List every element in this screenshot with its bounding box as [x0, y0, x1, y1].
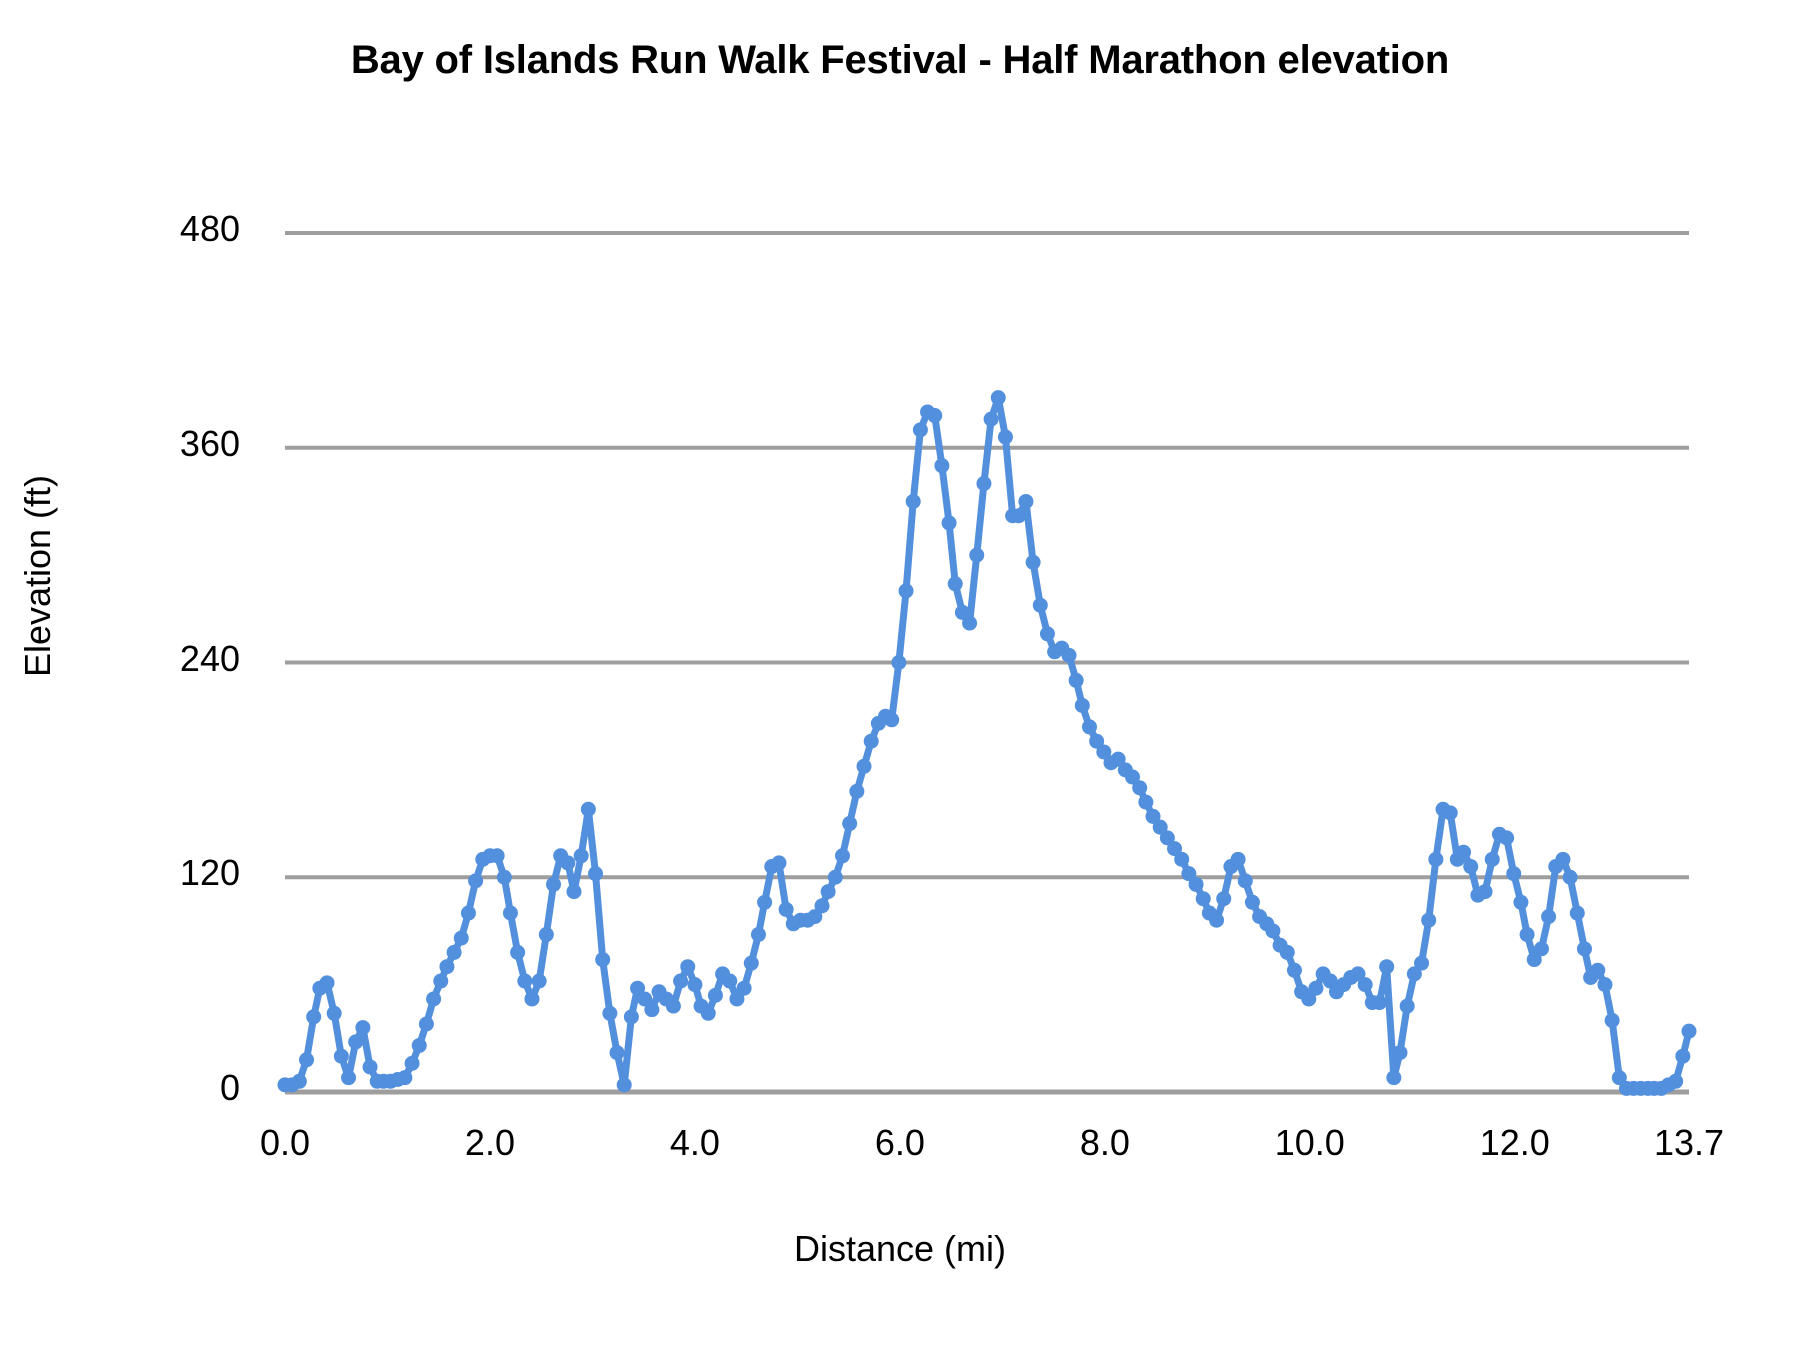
data-point[interactable] — [341, 1070, 356, 1085]
data-point[interactable] — [934, 458, 949, 473]
data-point[interactable] — [617, 1077, 632, 1092]
data-point[interactable] — [412, 1038, 427, 1053]
data-point[interactable] — [1563, 870, 1578, 885]
data-point[interactable] — [1082, 719, 1097, 734]
plot-area — [0, 0, 1800, 1350]
data-point[interactable] — [779, 902, 794, 917]
data-point[interactable] — [857, 759, 872, 774]
data-point[interactable] — [1216, 891, 1231, 906]
data-point[interactable] — [1358, 977, 1373, 992]
data-point[interactable] — [426, 991, 441, 1006]
elevation-chart: Bay of Islands Run Walk Festival - Half … — [0, 0, 1800, 1350]
data-point[interactable] — [306, 1009, 321, 1024]
data-point[interactable] — [1675, 1049, 1690, 1064]
data-point[interactable] — [348, 1034, 363, 1049]
data-point[interactable] — [815, 898, 830, 913]
data-point[interactable] — [1463, 859, 1478, 874]
data-point[interactable] — [517, 974, 532, 989]
data-point[interactable] — [1534, 941, 1549, 956]
data-point[interactable] — [1231, 852, 1246, 867]
data-point[interactable] — [1485, 852, 1500, 867]
data-point[interactable] — [1308, 981, 1323, 996]
data-point[interactable] — [595, 952, 610, 967]
data-point[interactable] — [567, 884, 582, 899]
data-point[interactable] — [1605, 1013, 1620, 1028]
data-point[interactable] — [1386, 1070, 1401, 1085]
data-point[interactable] — [1069, 673, 1084, 688]
data-point[interactable] — [984, 412, 999, 427]
data-point[interactable] — [461, 906, 476, 921]
data-point[interactable] — [560, 855, 575, 870]
data-point[interactable] — [363, 1059, 378, 1074]
data-point[interactable] — [998, 430, 1013, 445]
data-point[interactable] — [539, 927, 554, 942]
data-point[interactable] — [722, 974, 737, 989]
gridlines — [285, 233, 1689, 1092]
data-point[interactable] — [1506, 866, 1521, 881]
data-point[interactable] — [701, 1006, 716, 1021]
data-point[interactable] — [320, 975, 335, 990]
data-point[interactable] — [1132, 780, 1147, 795]
data-point[interactable] — [751, 927, 766, 942]
data-point[interactable] — [1040, 626, 1055, 641]
data-point[interactable] — [687, 977, 702, 992]
data-point[interactable] — [447, 945, 462, 960]
data-point[interactable] — [1443, 805, 1458, 820]
data-point[interactable] — [624, 1009, 639, 1024]
data-point[interactable] — [913, 422, 928, 437]
data-point[interactable] — [1245, 895, 1260, 910]
data-point[interactable] — [1428, 852, 1443, 867]
data-point[interactable] — [1456, 845, 1471, 860]
data-point[interactable] — [510, 945, 525, 960]
data-point[interactable] — [1061, 648, 1076, 663]
data-point[interactable] — [574, 848, 589, 863]
data-point[interactable] — [835, 848, 850, 863]
data-point[interactable] — [927, 408, 942, 423]
data-point[interactable] — [906, 494, 921, 509]
data-point[interactable] — [327, 1006, 342, 1021]
data-point[interactable] — [1393, 1045, 1408, 1060]
data-point[interactable] — [899, 583, 914, 598]
data-point[interactable] — [1138, 795, 1153, 810]
data-point[interactable] — [962, 616, 977, 631]
data-point[interactable] — [842, 816, 857, 831]
data-point[interactable] — [468, 873, 483, 888]
data-point[interactable] — [737, 981, 752, 996]
data-point[interactable] — [610, 1045, 625, 1060]
data-point[interactable] — [497, 870, 512, 885]
data-point[interactable] — [355, 1020, 370, 1035]
data-point[interactable] — [1400, 999, 1415, 1014]
data-point[interactable] — [503, 906, 518, 921]
data-point[interactable] — [757, 895, 772, 910]
data-point[interactable] — [976, 476, 991, 491]
data-point[interactable] — [1555, 852, 1570, 867]
data-point[interactable] — [1682, 1024, 1697, 1039]
data-point[interactable] — [1265, 923, 1280, 938]
data-point[interactable] — [1590, 963, 1605, 978]
data-point[interactable] — [1033, 598, 1048, 613]
data-point[interactable] — [1026, 555, 1041, 570]
data-point[interactable] — [891, 655, 906, 670]
data-point[interactable] — [1499, 830, 1514, 845]
data-point[interactable] — [1541, 909, 1556, 924]
data-point[interactable] — [1287, 963, 1302, 978]
data-point[interactable] — [334, 1049, 349, 1064]
data-point[interactable] — [1011, 508, 1026, 523]
data-point[interactable] — [1280, 945, 1295, 960]
data-point[interactable] — [1379, 959, 1394, 974]
data-point[interactable] — [969, 548, 984, 563]
data-point[interactable] — [1174, 852, 1189, 867]
data-point[interactable] — [744, 956, 759, 971]
data-point[interactable] — [588, 866, 603, 881]
data-point[interactable] — [849, 784, 864, 799]
series-layer — [278, 390, 1697, 1096]
data-point[interactable] — [991, 390, 1006, 405]
data-point[interactable] — [419, 1017, 434, 1032]
data-point[interactable] — [821, 884, 836, 899]
data-point[interactable] — [864, 734, 879, 749]
series-line — [285, 398, 1689, 1089]
data-point[interactable] — [1196, 891, 1211, 906]
data-point[interactable] — [680, 959, 695, 974]
data-point[interactable] — [884, 712, 899, 727]
data-point[interactable] — [439, 959, 454, 974]
data-point[interactable] — [524, 991, 539, 1006]
data-point[interactable] — [1597, 977, 1612, 992]
data-point[interactable] — [602, 1006, 617, 1021]
data-point[interactable] — [581, 802, 596, 817]
data-point[interactable] — [942, 515, 957, 530]
data-point[interactable] — [1075, 698, 1090, 713]
data-point[interactable] — [708, 988, 723, 1003]
data-point[interactable] — [1372, 995, 1387, 1010]
data-point[interactable] — [454, 931, 469, 946]
data-point[interactable] — [1577, 941, 1592, 956]
data-point[interactable] — [666, 999, 681, 1014]
data-point[interactable] — [1189, 877, 1204, 892]
data-point[interactable] — [299, 1052, 314, 1067]
data-point[interactable] — [405, 1056, 420, 1071]
data-point[interactable] — [1478, 884, 1493, 899]
data-point[interactable] — [1570, 906, 1585, 921]
data-point[interactable] — [771, 855, 786, 870]
data-point[interactable] — [1018, 494, 1033, 509]
data-point[interactable] — [397, 1070, 412, 1085]
data-point[interactable] — [828, 870, 843, 885]
data-point[interactable] — [948, 576, 963, 591]
data-point[interactable] — [1414, 956, 1429, 971]
data-point[interactable] — [1668, 1074, 1683, 1089]
data-point[interactable] — [292, 1074, 307, 1089]
data-point[interactable] — [433, 974, 448, 989]
data-point[interactable] — [1238, 873, 1253, 888]
data-point[interactable] — [1209, 913, 1224, 928]
data-point[interactable] — [532, 974, 547, 989]
data-point[interactable] — [673, 974, 688, 989]
data-point[interactable] — [1520, 927, 1535, 942]
data-point[interactable] — [644, 1002, 659, 1017]
data-point[interactable] — [1513, 895, 1528, 910]
data-point[interactable] — [546, 877, 561, 892]
data-point[interactable] — [490, 848, 505, 863]
data-point[interactable] — [1421, 913, 1436, 928]
